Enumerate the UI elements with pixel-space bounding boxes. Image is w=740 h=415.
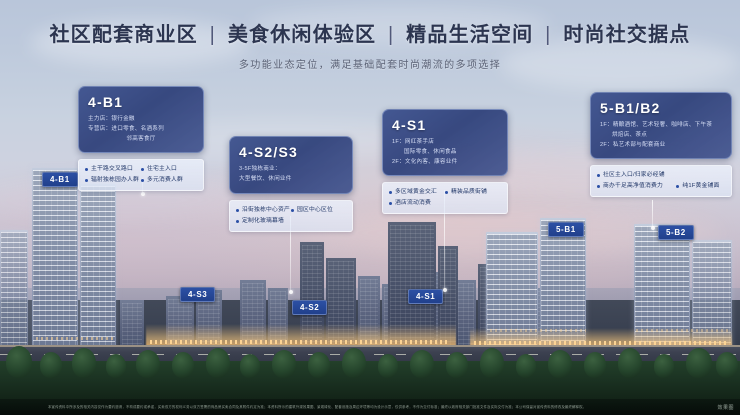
list-item: 精装品质街铺 <box>445 187 501 198</box>
callout-card: 5-B1/B2 1F：精酿酒馆、艺术轻奢、咖啡店、下午茶 烘焙店、茶点 2F：私… <box>590 92 732 159</box>
title-separator: | <box>205 24 221 46</box>
building-tag-4-s3[interactable]: 4-S3 <box>180 287 215 302</box>
list-item: 园区中心区位 <box>291 205 346 216</box>
footer-bar: 本宣传资料中所涉及的相关内容仅作为要约邀请，不构成要约或承诺，买卖双方的权利义务… <box>0 399 740 415</box>
list-item-label: 多元消费人群 <box>147 175 183 186</box>
callout-4-s1[interactable]: 4-S1 1F：网红茶手店 国际零食、休闲食品 2F：文化內客、康容业件 多区域… <box>382 109 508 214</box>
bullet-dot-icon <box>85 168 88 171</box>
building-tag-4-s1[interactable]: 4-S1 <box>408 289 443 304</box>
callout-line: 1F：网红茶手店 <box>392 138 498 148</box>
callout-line: 大型餐饮、休闲业件 <box>239 175 343 185</box>
marketing-render-page: 社区配套商业区 | 美食休闲体验区 | 精品生活空间 | 时尚社交据点 多功能业… <box>0 0 740 415</box>
legal-disclaimer: 本宣传资料中所涉及的相关内容仅作为要约邀请，不构成要约或承诺，买卖双方的权利义务… <box>0 405 717 409</box>
title-part-2: 美食休闲体验区 <box>228 24 376 46</box>
callout-line: 邻高客食厅 <box>88 135 194 145</box>
bullet-dot-icon <box>597 174 600 177</box>
callout-line: 烘焙店、茶点 <box>600 131 722 141</box>
list-item: 沿街独栋中心资产 <box>236 205 291 216</box>
list-item: 多区域黄金交汇 <box>389 187 445 198</box>
list-item-label: 多区域黄金交汇 <box>395 187 437 198</box>
callout-4-s2-s3[interactable]: 4-S2/S3 3-5F独栋商业： 大型餐饮、休闲业件 沿街独栋中心资产 园区中… <box>229 136 353 232</box>
callout-card: 4-S1 1F：网红茶手店 国际零食、休闲食品 2F：文化內客、康容业件 <box>382 109 508 176</box>
callout-code: 4-S2/S3 <box>239 144 343 160</box>
list-item: 酒店流动消费 <box>389 198 445 209</box>
building-tag-4-s2[interactable]: 4-S2 <box>292 300 327 315</box>
callout-bullet-list: 主干路交叉路口 住宅主入口 辐射独栋园办人群 多元消费人群 <box>78 159 204 191</box>
callout-bullet-list: 社区主入口/归家必经铺 商办千足高净值消费力 纯1F黄金铺面 <box>590 165 732 197</box>
title-separator: | <box>540 24 556 46</box>
list-item: 定制化玻璃幕墙 <box>236 216 291 227</box>
list-item-label: 纯1F黄金铺面 <box>682 181 719 192</box>
bullet-dot-icon <box>236 209 239 212</box>
bullet-dot-icon <box>389 191 392 194</box>
page-title: 社区配套商业区 | 美食休闲体验区 | 精品生活空间 | 时尚社交据点 <box>0 18 740 47</box>
bullet-dot-icon <box>676 185 679 188</box>
bullet-dot-icon <box>141 179 144 182</box>
building-tag-5-b2[interactable]: 5-B2 <box>658 225 694 240</box>
callout-description: 3-5F独栋商业： 大型餐饮、休闲业件 <box>239 165 343 185</box>
list-item-label: 沿街独栋中心资产 <box>242 205 290 216</box>
list-item-label: 精装品质街铺 <box>451 187 487 198</box>
callout-description: 1F：网红茶手店 国际零食、休闲食品 2F：文化內客、康容业件 <box>392 138 498 167</box>
title-part-3: 精品生活空间 <box>406 24 533 46</box>
list-item-label: 定制化玻璃幕墙 <box>242 216 284 227</box>
callout-5-b1-b2[interactable]: 5-B1/B2 1F：精酿酒馆、艺术轻奢、咖啡店、下午茶 烘焙店、茶点 2F：私… <box>590 92 732 197</box>
callout-description: 1F：精酿酒馆、艺术轻奢、咖啡店、下午茶 烘焙店、茶点 2F：私艺术部与配套商业 <box>600 121 722 150</box>
title-separator: | <box>383 24 399 46</box>
bullet-dot-icon <box>236 220 239 223</box>
callout-line: 主力店：银行金融 <box>88 115 194 125</box>
tree-line <box>0 330 740 378</box>
bullet-dot-icon <box>141 168 144 171</box>
callout-code: 5-B1/B2 <box>600 100 722 116</box>
bullet-dot-icon <box>85 179 88 182</box>
callout-line: 3-5F独栋商业： <box>239 165 343 175</box>
leader-line <box>652 200 653 228</box>
bullet-dot-icon <box>389 202 392 205</box>
callout-line: 2F：文化內客、康容业件 <box>392 158 498 168</box>
list-item: 商办千足高净值消费力 <box>597 181 676 192</box>
callout-card: 4-B1 主力店：银行金融 专营店：进口零食、名酒系列 邻高客食厅 <box>78 86 204 153</box>
callout-bullet-list: 沿街独栋中心资产 园区中心区位 定制化玻璃幕墙 <box>229 200 353 232</box>
list-item-label: 辐射独栋园办人群 <box>91 175 139 186</box>
list-item-label: 住宅主入口 <box>147 164 177 175</box>
callout-4-b1[interactable]: 4-B1 主力店：银行金融 专营店：进口零食、名酒系列 邻高客食厅 主干路交叉路… <box>78 86 204 191</box>
callout-line: 1F：精酿酒馆、艺术轻奢、咖啡店、下午茶 <box>600 121 722 131</box>
callout-bullet-list: 多区域黄金交汇 精装品质街铺 酒店流动消费 <box>382 182 508 214</box>
title-part-1: 社区配套商业区 <box>49 24 197 46</box>
list-item-label: 商办千足高净值消费力 <box>603 181 663 192</box>
list-item-label: 社区主入口/归家必经铺 <box>603 170 665 181</box>
callout-line: 国际零食、休闲食品 <box>392 148 498 158</box>
building-tag-4-b1[interactable]: 4-B1 <box>42 172 78 187</box>
list-item: 社区主入口/归家必经铺 <box>597 170 725 181</box>
callout-line: 2F：私艺术部与配套商业 <box>600 141 722 151</box>
bullet-dot-icon <box>445 191 448 194</box>
list-item-label: 主干路交叉路口 <box>91 164 133 175</box>
list-item: 住宅主入口 <box>141 164 197 175</box>
building-tag-5-b1[interactable]: 5-B1 <box>548 222 584 237</box>
page-subtitle: 多功能业态定位，满足基础配套时尚潮流的多项选择 <box>0 56 740 71</box>
watermark-label: 效果图 <box>717 404 740 411</box>
bullet-dot-icon <box>597 185 600 188</box>
list-item-label: 酒店流动消费 <box>395 198 431 209</box>
callout-card: 4-S2/S3 3-5F独栋商业： 大型餐饮、休闲业件 <box>229 136 353 194</box>
list-item: 主干路交叉路口 <box>85 164 141 175</box>
bullet-dot-icon <box>291 209 294 212</box>
callout-code: 4-B1 <box>88 94 194 110</box>
callout-line: 专营店：进口零食、名酒系列 <box>88 125 194 135</box>
list-item: 多元消费人群 <box>141 175 197 186</box>
list-item: 纯1F黄金铺面 <box>676 181 725 192</box>
title-part-4: 时尚社交据点 <box>563 24 690 46</box>
list-item-label: 园区中心区位 <box>297 205 333 216</box>
callout-code: 4-S1 <box>392 117 498 133</box>
list-item: 辐射独栋园办人群 <box>85 175 141 186</box>
callout-description: 主力店：银行金融 专营店：进口零食、名酒系列 邻高客食厅 <box>88 115 194 144</box>
